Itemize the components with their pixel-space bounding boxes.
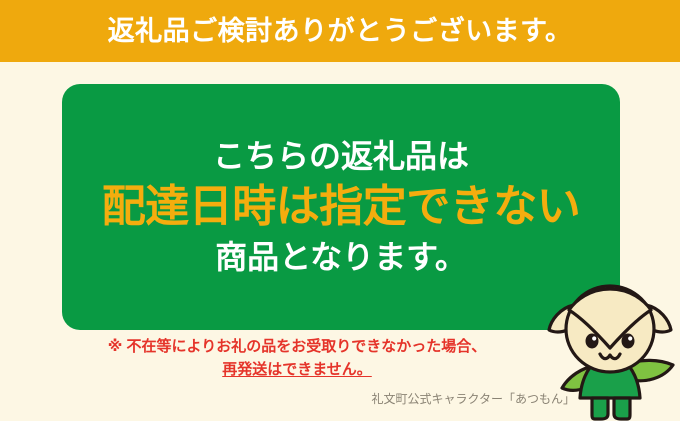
mascot-left-eye	[586, 334, 599, 349]
notice-line-highlight: 配達日時は指定できない	[102, 180, 581, 234]
caution-block: ※ 不在等によりお礼の品をお受取りできなかった場合、 再発送はできません。	[62, 336, 532, 381]
caution-line-2: 再発送はできません。	[222, 359, 372, 382]
caution-line-1: ※ 不在等によりお礼の品をお受取りできなかった場合、	[62, 336, 532, 359]
notice-line-secondary: 商品となります。	[215, 238, 467, 277]
header-title: 返礼品ご検討ありがとうございます。	[108, 18, 573, 45]
atsumon-mascot-icon	[540, 272, 680, 421]
mascot-right-eye-glint	[628, 336, 632, 340]
thank-you-notice-banner: 返礼品ご検討ありがとうございます。 こちらの返礼品は 配達日時は指定できない 商…	[0, 0, 680, 421]
notice-panel: こちらの返礼品は 配達日時は指定できない 商品となります。	[62, 84, 620, 330]
mascot-left-boot	[592, 398, 608, 419]
mascot-right-eye	[622, 334, 635, 349]
mascot-left-eye-glint	[592, 336, 596, 340]
mascot-right-boot	[614, 398, 630, 419]
caution-line-2-wrapper: 再発送はできません。	[62, 359, 532, 382]
notice-line-primary: こちらの返礼品は	[213, 137, 469, 176]
header-band: 返礼品ご検討ありがとうございます。	[0, 0, 680, 62]
notice-panel-content: こちらの返礼品は 配達日時は指定できない 商品となります。	[62, 84, 620, 330]
atsumon-mascot-svg	[540, 272, 680, 421]
